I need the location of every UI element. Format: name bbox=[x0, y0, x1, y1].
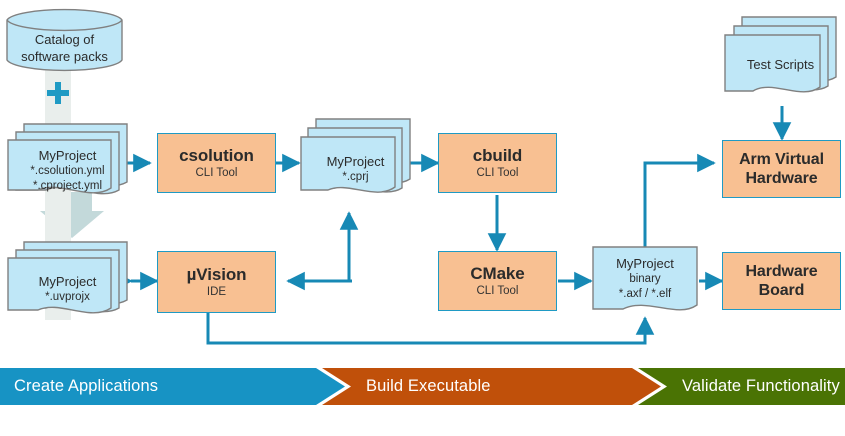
board-line1: Hardware bbox=[745, 262, 817, 281]
solution-doc-sub2: *.cproject.yml bbox=[6, 179, 129, 194]
uvision-subtitle: IDE bbox=[207, 285, 226, 300]
phase-banner: Create Applications Build Executable Val… bbox=[0, 368, 845, 405]
wire-uvision-to-binary bbox=[208, 313, 645, 343]
uvision-title: µVision bbox=[187, 265, 247, 284]
arm-virtual-hardware-box[interactable]: Arm Virtual Hardware bbox=[722, 140, 841, 198]
phase-label-create: Create Applications bbox=[14, 368, 158, 405]
binary-doc-sub2: *.axf / *.elf bbox=[591, 287, 699, 302]
phase-label-validate: Validate Functionality bbox=[682, 368, 840, 405]
binary-document: MyProject binary *.axf / *.elf bbox=[591, 245, 699, 323]
plus-icon bbox=[44, 78, 72, 108]
csolution-title: csolution bbox=[179, 146, 254, 165]
wire-binary-to-avh bbox=[645, 163, 714, 249]
cbuild-box[interactable]: cbuild CLI Tool bbox=[438, 133, 557, 193]
phase-label-build: Build Executable bbox=[366, 368, 491, 405]
csolution-box[interactable]: csolution CLI Tool bbox=[157, 133, 276, 193]
solution-doc-title: MyProject bbox=[6, 148, 129, 164]
hardware-board-box[interactable]: Hardware Board bbox=[722, 252, 841, 310]
solution-doc-sub1: *.csolution.yml bbox=[6, 164, 129, 179]
binary-doc-title: MyProject bbox=[591, 256, 699, 272]
solution-documents: MyProject *.csolution.yml *.cproject.yml bbox=[6, 122, 129, 204]
cprj-documents: MyProject *.cprj bbox=[299, 117, 412, 207]
avh-line2: Hardware bbox=[745, 169, 817, 188]
cmake-subtitle: CLI Tool bbox=[477, 284, 519, 299]
cbuild-subtitle: CLI Tool bbox=[477, 166, 519, 181]
uvprojx-documents: MyProject *.uvprojx bbox=[6, 240, 129, 324]
cprj-doc-title: MyProject bbox=[299, 154, 412, 170]
test-scripts-documents: Test Scripts bbox=[723, 15, 838, 107]
csolution-subtitle: CLI Tool bbox=[196, 166, 238, 181]
uvprojx-doc-title: MyProject bbox=[6, 274, 129, 290]
avh-line1: Arm Virtual bbox=[739, 150, 824, 169]
cmake-title: CMake bbox=[470, 264, 524, 283]
uvprojx-doc-sub1: *.uvprojx bbox=[6, 290, 129, 305]
cprj-doc-sub1: *.cprj bbox=[299, 170, 412, 185]
board-line2: Board bbox=[759, 281, 805, 300]
binary-doc-sub1: binary bbox=[591, 272, 699, 287]
catalog-line1: Catalog of bbox=[6, 31, 123, 48]
uvision-box[interactable]: µVision IDE bbox=[157, 251, 276, 313]
test-scripts-title: Test Scripts bbox=[723, 57, 838, 73]
workflow-diagram: Catalog of software packs MyProject *.cs… bbox=[0, 0, 845, 436]
catalog-line2: software packs bbox=[6, 48, 123, 65]
catalog-cylinder: Catalog of software packs bbox=[6, 7, 123, 73]
cmake-box[interactable]: CMake CLI Tool bbox=[438, 251, 557, 311]
cbuild-title: cbuild bbox=[473, 146, 522, 165]
